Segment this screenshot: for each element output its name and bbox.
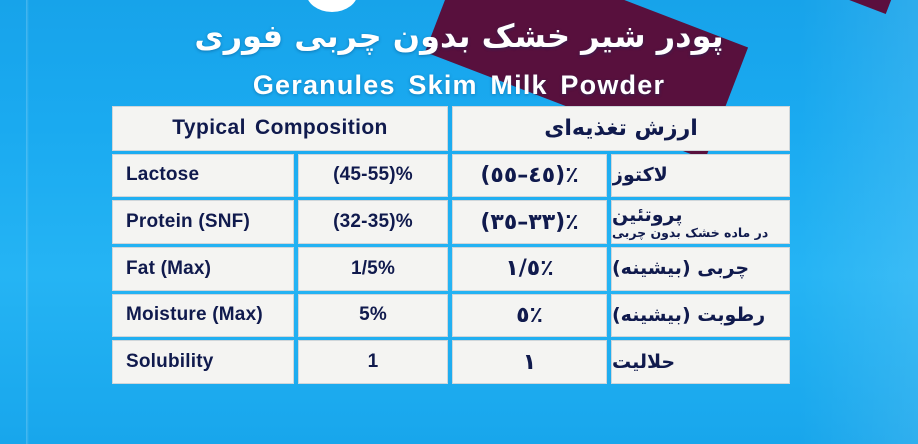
row-label-persian-main: رطوبت (بیشینه): [612, 305, 765, 326]
row-label-english: Moisture (Max): [112, 294, 294, 338]
table-row: Fat (Max) 1/5% ١/٥٪ چربی (بیشینه): [112, 247, 790, 291]
row-label-persian-main: پروتئین: [612, 205, 683, 226]
row-label-persian-main: لاکتوز: [612, 165, 668, 186]
row-value-persian: ٥٪: [452, 294, 607, 338]
package-left-seam: [26, 0, 29, 444]
row-label-persian: لاکتوز: [611, 154, 790, 198]
product-title-persian: پودر شیر خشک بدون چربی فوری: [0, 18, 918, 55]
package-right-glow: [798, 0, 918, 444]
table-header-row: Typical Composition ارزش تغذیه‌ای: [112, 106, 790, 151]
table-row: Solubility 1 ١ حلالیت: [112, 340, 790, 384]
nutrition-table: Typical Composition ارزش تغذیه‌ای Lactos…: [112, 106, 790, 384]
row-value-persian: (٤٥–٥٥)٪: [452, 154, 607, 198]
row-label-english: Fat (Max): [112, 247, 294, 291]
row-label-persian: پروتئین در ماده خشک بدون چربی: [611, 200, 790, 244]
table-row: Lactose (45-55)% (٤٥–٥٥)٪ لاکتوز: [112, 154, 790, 198]
row-label-persian-sub: در ماده خشک بدون چربی: [612, 226, 768, 240]
table-row: Protein (SNF) (32-35)% (٣٣–٣٥)٪ پروتئین …: [112, 200, 790, 244]
row-label-persian-main: چربی (بیشینه): [612, 258, 749, 279]
row-value-persian: ١: [452, 340, 607, 384]
row-label-persian: حلالیت: [611, 340, 790, 384]
row-value-english: 1: [298, 340, 448, 384]
header-typical-composition: Typical Composition: [112, 106, 448, 151]
row-value-english: 1/5%: [298, 247, 448, 291]
row-value-persian: ١/٥٪: [452, 247, 607, 291]
row-value-english: (45-55)%: [298, 154, 448, 198]
table-row: Moisture (Max) 5% ٥٪ رطوبت (بیشینه): [112, 294, 790, 338]
row-value-english: 5%: [298, 294, 448, 338]
row-label-english: Solubility: [112, 340, 294, 384]
row-label-persian: چربی (بیشینه): [611, 247, 790, 291]
row-label-persian-main: حلالیت: [612, 352, 675, 373]
row-label-persian: رطوبت (بیشینه): [611, 294, 790, 338]
row-value-english: (32-35)%: [298, 200, 448, 244]
header-nutritional-value-persian: ارزش تغذیه‌ای: [452, 106, 790, 151]
product-title-english: Geranules Skim Milk Powder: [0, 70, 918, 101]
row-label-english: Lactose: [112, 154, 294, 198]
row-label-english: Protein (SNF): [112, 200, 294, 244]
row-value-persian: (٣٣–٣٥)٪: [452, 200, 607, 244]
